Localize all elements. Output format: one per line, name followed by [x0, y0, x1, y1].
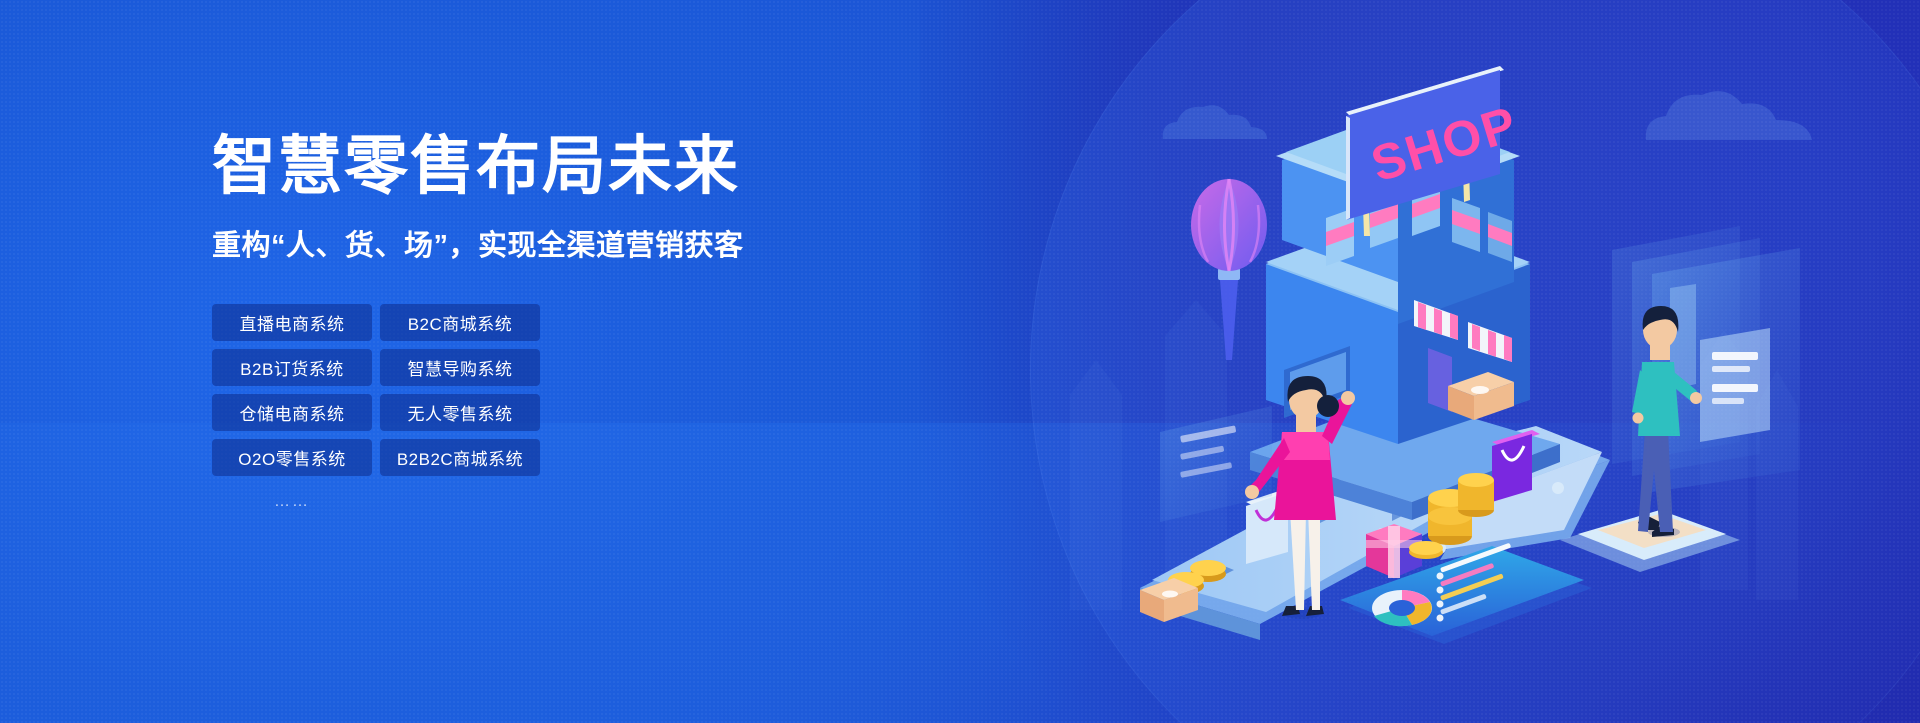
system-tag-4[interactable]: 智慧导购系统 — [380, 349, 540, 386]
system-tag-8[interactable]: B2B2C商城系统 — [380, 439, 540, 476]
skyline-silhouette-icon — [1070, 360, 1122, 610]
retail-hero-banner: SHOP — [0, 0, 1920, 723]
page-title: 智慧零售布局未来 — [212, 130, 912, 204]
system-tag-grid: 直播电商系统B2C商城系统B2B订货系统智慧导购系统仓储电商系统无人零售系统O2… — [212, 304, 707, 521]
donut-chart — [1372, 590, 1432, 626]
system-tag-2[interactable]: B2C商城系统 — [380, 304, 540, 341]
system-tag-more: …… — [212, 484, 372, 521]
smart-retail-illustration: SHOP — [1140, 40, 1900, 680]
system-tag-1[interactable]: 直播电商系统 — [212, 304, 372, 341]
page-subtitle: 重构“人、货、场”，实现全渠道营销获客 — [212, 222, 912, 264]
hot-air-balloon-icon — [1191, 179, 1267, 360]
system-tag-6[interactable]: 无人零售系统 — [380, 394, 540, 431]
floating-ui-screens — [1612, 226, 1800, 492]
system-tag-5[interactable]: 仓储电商系统 — [212, 394, 372, 431]
hero-copy-block: 智慧零售布局未来 重构“人、货、场”，实现全渠道营销获客 直播电商系统B2C商城… — [212, 130, 912, 521]
system-tag-7[interactable]: O2O零售系统 — [212, 439, 372, 476]
system-tag-3[interactable]: B2B订货系统 — [212, 349, 372, 386]
